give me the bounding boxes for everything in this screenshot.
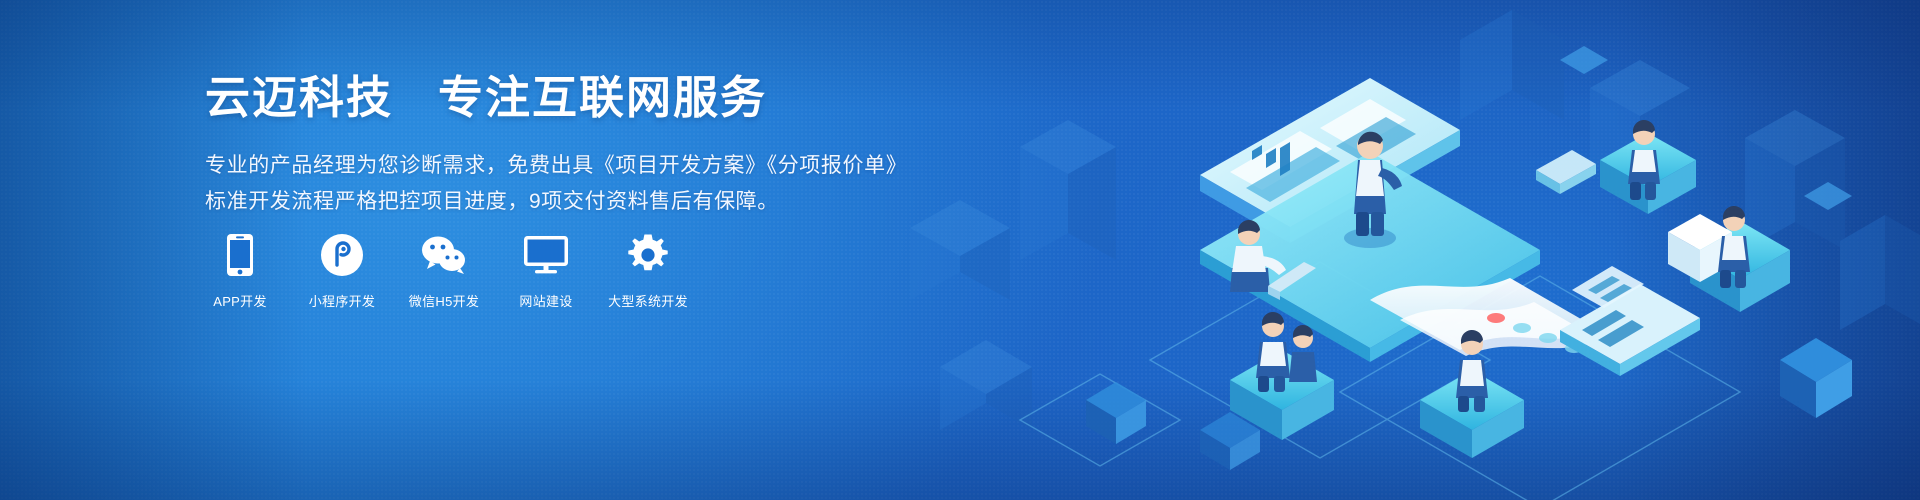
character-bottom-left-b	[1289, 325, 1317, 382]
service-item-mini-program[interactable]: 小程序开发	[304, 232, 380, 310]
service-label-large-system: 大型系统开发	[608, 291, 688, 310]
subtitle-line-1: 专业的产品经理为您诊断需求，免费出具《项目开发方案》《分项报价单》	[205, 148, 905, 184]
floating-ui-card-b	[1572, 266, 1644, 308]
cube-bottom-left	[1086, 382, 1146, 444]
tablet-card	[1560, 284, 1700, 376]
wechat-icon	[421, 232, 467, 278]
pedestal-left-lower	[1230, 350, 1334, 440]
monitor-group	[1200, 78, 1460, 243]
service-label-website: 网站建设	[519, 291, 572, 310]
service-list: APP开发 小程序开发	[202, 232, 686, 310]
service-item-website[interactable]: 网站建设	[508, 232, 584, 310]
headline-brand: 云迈科技	[205, 72, 393, 123]
promo-banner: 云迈科技 专注互联网服务 专业的产品经理为您诊断需求，免费出具《项目开发方案》《…	[0, 0, 1920, 500]
floating-ui-card-a	[1536, 150, 1596, 194]
service-label-app: APP开发	[213, 291, 267, 310]
pedestal-right-lower	[1690, 221, 1790, 312]
illustration-isometric-tech-scene	[900, 0, 1920, 500]
subtitle-line-2: 标准开发流程严格把控项目进度，9项交付资料售后有保障。	[205, 184, 905, 220]
monitor-icon	[524, 232, 568, 278]
page-title: 云迈科技 专注互联网服务	[205, 72, 905, 124]
character-bottom-center	[1456, 330, 1488, 412]
character-center	[1344, 132, 1402, 248]
banner-copy: 云迈科技 专注互联网服务 专业的产品经理为您诊断需求，免费出具《项目开发方案》《…	[205, 72, 905, 220]
headline-tagline: 专注互联网服务	[438, 72, 767, 123]
floating-diamonds	[1200, 46, 1852, 470]
service-label-wechat-h5: 微信H5开发	[409, 291, 479, 310]
mini-program-icon	[321, 232, 363, 278]
pedestal-center-lower	[1420, 370, 1524, 458]
service-item-wechat-h5[interactable]: 微信H5开发	[406, 232, 482, 310]
service-label-mini-program: 小程序开发	[309, 291, 376, 310]
cube-bottom-right	[1780, 338, 1852, 418]
white-cube	[1668, 214, 1732, 282]
document-ribbon	[1370, 278, 1600, 356]
character-right-upper	[1628, 120, 1660, 200]
floor-outlines	[1020, 262, 1740, 500]
background-blocks	[910, 10, 1920, 430]
service-item-large-system[interactable]: 大型系统开发	[610, 232, 686, 310]
pedestal-right-upper	[1600, 133, 1696, 214]
service-item-app[interactable]: APP开发	[202, 232, 278, 310]
main-platform	[1200, 152, 1540, 362]
gear-icon	[627, 232, 669, 278]
character-left-seated	[1230, 220, 1316, 300]
character-right-lower	[1718, 206, 1750, 288]
character-bottom-left	[1256, 312, 1290, 392]
mobile-phone-icon	[227, 232, 253, 278]
